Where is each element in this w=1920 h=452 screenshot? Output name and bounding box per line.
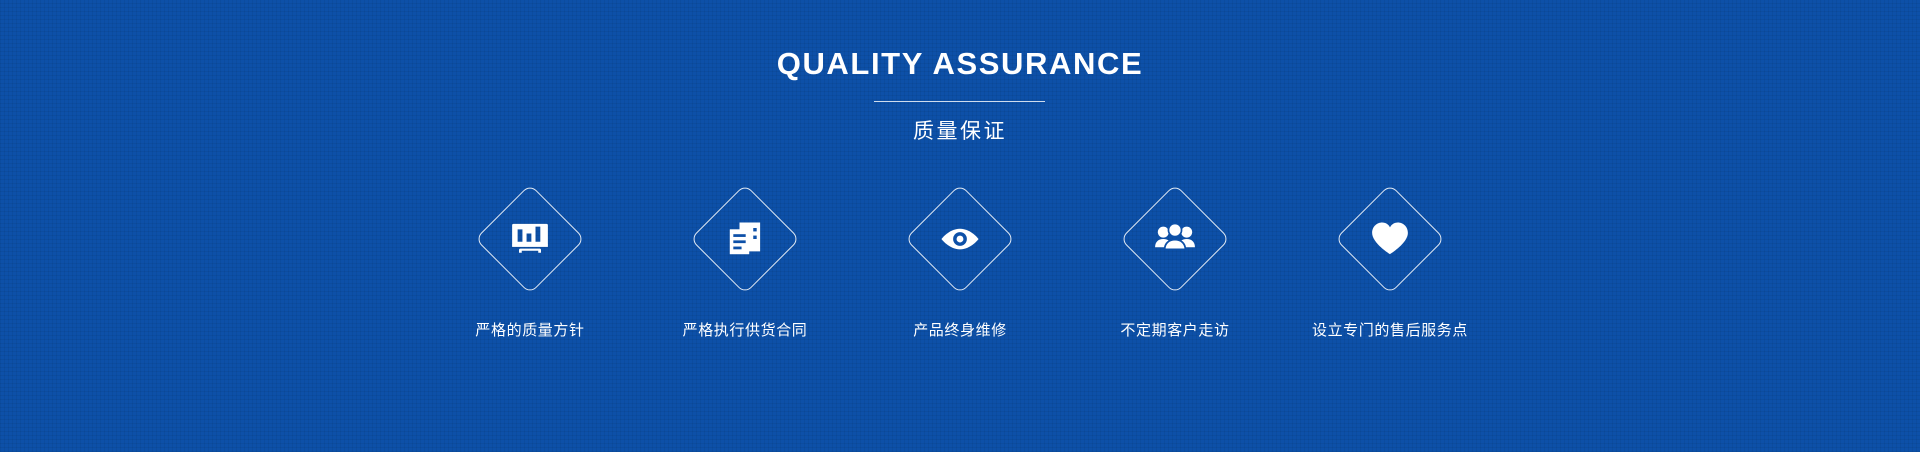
feature-item-lifetime-repair[interactable]: 产品终身维修 [853,183,1068,338]
feature-list: 严格的质量方针 [423,183,1498,338]
documents-contract-icon [723,217,767,261]
feature-item-supply-contract[interactable]: 严格执行供货合同 [638,183,853,338]
banner-content: QUALITY ASSURANCE 质量保证 严格的质量方针 [0,0,1920,452]
heart-icon [1368,217,1412,261]
feature-label: 不定期客户走访 [1120,323,1229,338]
feature-label: 严格执行供货合同 [683,323,808,338]
feature-icon-frame [904,183,1016,295]
feature-icon-frame [689,183,801,295]
banner-title-english: QUALITY ASSURANCE [777,48,1144,79]
banner-title-chinese: 质量保证 [913,121,1007,142]
heading-block: QUALITY ASSURANCE 质量保证 [777,48,1144,142]
eye-icon [938,217,982,261]
feature-label: 严格的质量方针 [475,323,584,338]
presentation-chart-icon [508,217,552,261]
title-divider [874,101,1045,102]
quality-assurance-banner: QUALITY ASSURANCE 质量保证 严格的质量方针 [0,0,1920,452]
users-group-icon [1153,217,1197,261]
feature-icon-frame [474,183,586,295]
feature-item-quality-policy[interactable]: 严格的质量方针 [423,183,638,338]
feature-label: 产品终身维修 [913,323,1007,338]
feature-label: 设立专门的售后服务点 [1312,323,1468,338]
feature-icon-frame [1334,183,1446,295]
feature-item-customer-visits[interactable]: 不定期客户走访 [1068,183,1283,338]
feature-icon-frame [1119,183,1231,295]
feature-item-after-sales-service[interactable]: 设立专门的售后服务点 [1283,183,1498,338]
